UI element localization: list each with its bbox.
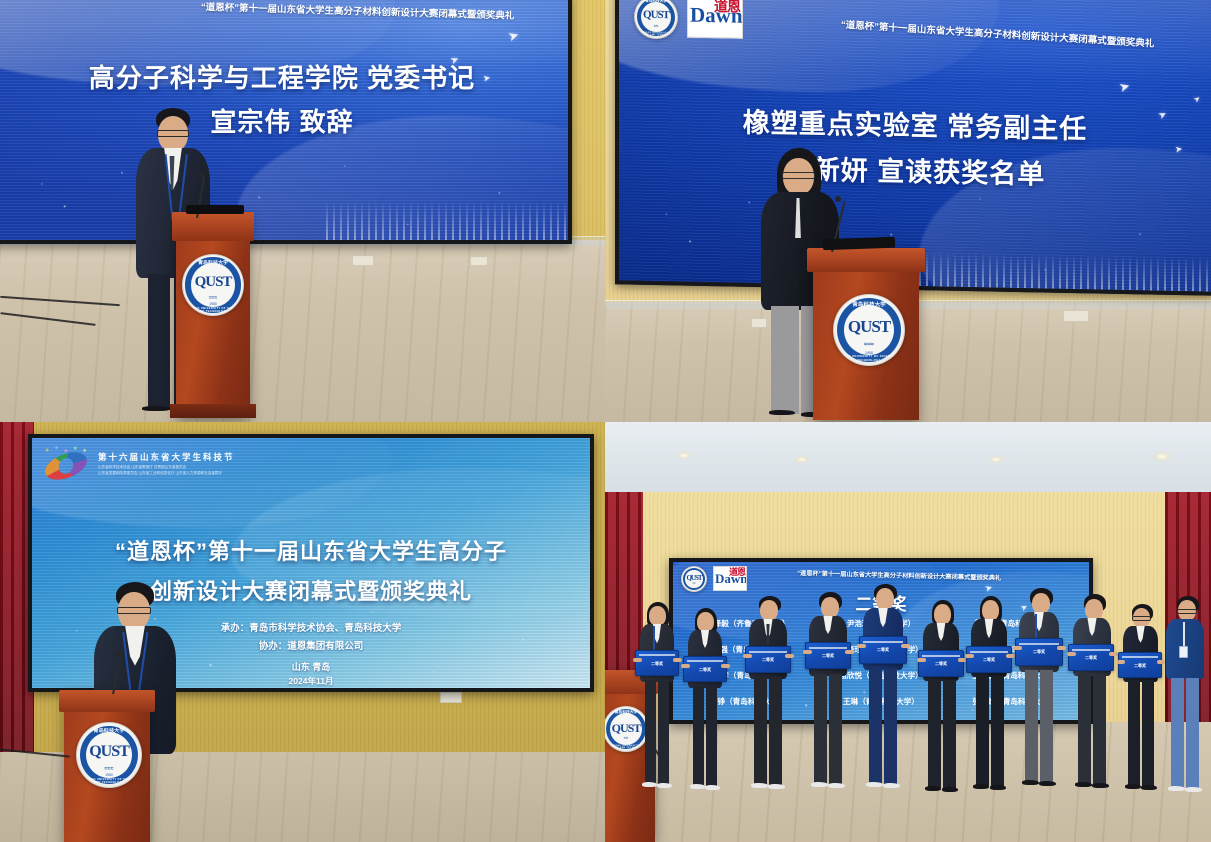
leg xyxy=(645,680,656,784)
wall-socket xyxy=(440,692,462,703)
glasses-icon xyxy=(157,130,189,137)
hand xyxy=(845,650,854,654)
led-screen: “道恩杯”第十一届山东省大学生高分子材料创新设计大赛闭幕式暨颁奖典礼 ➤ ➤ ➤… xyxy=(0,0,572,244)
emblem-wordmark: QUST xyxy=(183,274,243,291)
certificate-header-line xyxy=(639,654,676,656)
lanyard xyxy=(653,626,655,652)
badge xyxy=(1179,646,1188,658)
leg xyxy=(754,677,767,785)
leg xyxy=(814,674,827,784)
certificate: 二等奖 xyxy=(1068,644,1114,671)
certificate-label: 二等奖 xyxy=(1069,656,1113,660)
shoe xyxy=(1185,787,1202,792)
leg xyxy=(991,676,1004,786)
leg xyxy=(976,676,989,786)
leg xyxy=(148,274,170,410)
emblem-year: 1950 xyxy=(77,773,141,777)
ceiling-downlight xyxy=(989,456,1003,463)
microphone-head xyxy=(835,196,841,202)
head xyxy=(982,600,999,621)
dawn-logo: Dawn 道恩 xyxy=(687,0,743,39)
leg xyxy=(1025,670,1038,782)
certificate-header-line xyxy=(687,660,724,662)
panel-bottom-left: 第十六届山东省大学生科技节 山东省科学技术协会 山东省教育厅 共青团山东省委员会… xyxy=(0,422,605,842)
leg xyxy=(1128,680,1140,786)
emblem-en-text: QINGDAO UNIVERSITY OF SCIENCE AND TECHNO… xyxy=(834,354,904,362)
head xyxy=(649,606,666,626)
festival-title: 第十六届山东省大学生科技节 xyxy=(98,451,235,463)
emblem-year: 1950 xyxy=(183,302,243,306)
shoe xyxy=(942,787,958,792)
emblem-waves-icon: ≈≈≈ xyxy=(77,766,141,772)
certificate-label: 二等奖 xyxy=(636,662,678,666)
panel-bottom-right: QUST ≈≈ Dawn 道恩 “道恩杯”第十一届山东省大学生高分子材料创新设计… xyxy=(605,422,1211,842)
dawn-logo-cn: 道恩 xyxy=(714,0,740,14)
leg xyxy=(1093,674,1106,784)
podium: 青岛科技大学 QUST ≈≈≈ 1950 QINGDAO UNIVERSITY … xyxy=(64,690,150,842)
shoe xyxy=(769,410,795,415)
head xyxy=(760,600,778,621)
emblem-waves-icon: ≈≈≈ xyxy=(183,295,243,301)
certificate-label: 二等奖 xyxy=(1119,664,1161,668)
screen-title-line1: 高分子科学与工程学院 党委书记 xyxy=(0,58,568,95)
student: 二等奖 xyxy=(1067,594,1119,796)
certificate-label: 二等奖 xyxy=(806,654,850,658)
certificate-label: 二等奖 xyxy=(746,658,790,662)
glasses-icon xyxy=(117,607,151,614)
screen-surface: “道恩杯”第十一届山东省大学生高分子材料创新设计大赛闭幕式暨颁奖典礼 ➤ ➤ ➤… xyxy=(0,0,568,240)
shoe xyxy=(705,785,720,790)
shoe xyxy=(828,783,845,788)
leg xyxy=(771,306,799,414)
lanyard xyxy=(1183,622,1185,648)
student: 二等奖 xyxy=(803,592,855,796)
emblem-wordmark: QUST xyxy=(77,743,141,761)
leg xyxy=(1142,680,1154,786)
shoe xyxy=(768,784,785,789)
student: 二等奖 xyxy=(681,608,729,798)
podium-base xyxy=(170,404,256,418)
microphone-head xyxy=(199,172,205,178)
certificate-label: 二等奖 xyxy=(919,662,963,666)
hand xyxy=(917,658,926,662)
emblem-waves-icon: ≈≈≈ xyxy=(834,342,904,348)
certificate-header-line xyxy=(1019,643,1060,645)
science-festival-logo: 第十六届山东省大学生科技节 山东省科学技术协会 山东省教育厅 共青团山东省委员会… xyxy=(42,444,372,482)
leg xyxy=(1078,674,1091,784)
wall-socket xyxy=(352,255,374,266)
certificate-label: 二等奖 xyxy=(684,668,726,672)
certificate-header-line xyxy=(970,651,1009,653)
shoe xyxy=(1039,781,1056,786)
shoe xyxy=(973,784,989,789)
shoe xyxy=(811,782,828,787)
podium-top xyxy=(807,248,926,272)
certificate-header-line xyxy=(749,651,788,653)
head xyxy=(934,604,951,625)
hand xyxy=(743,654,752,658)
student: 二等奖 xyxy=(917,600,967,796)
shoe xyxy=(925,786,941,791)
certificate-header-line xyxy=(1072,649,1111,651)
certificate: 二等奖 xyxy=(745,646,791,673)
student: 二等奖 xyxy=(965,596,1015,796)
festival-orgs-line2: 山东省发展和改革委员会 山东省工业和信息化厅 山东省人力资源和社会保障厅 xyxy=(98,471,235,476)
hand xyxy=(1013,646,1022,650)
shoe xyxy=(690,784,705,789)
panel-top-right: 青岛科技大学 QUST ≈≈ QINGDAO UNIVERSITY OF SCI… xyxy=(605,0,1211,422)
certificate: 二等奖 xyxy=(805,642,851,669)
emblem-cn-text: 青岛科技大学 xyxy=(635,0,677,4)
emblem-waves-icon: ≈≈ xyxy=(682,581,706,585)
shoe xyxy=(1022,780,1039,785)
glasses-icon xyxy=(1132,616,1151,621)
certificate-label: 二等奖 xyxy=(1016,650,1062,654)
certificate-label: 二等奖 xyxy=(860,648,906,652)
head xyxy=(697,612,714,632)
hand xyxy=(1117,660,1125,664)
certificate: 二等奖 xyxy=(966,646,1012,673)
head xyxy=(1085,599,1103,620)
hand xyxy=(965,654,974,658)
emblem-wordmark: QUST xyxy=(834,317,904,337)
podium-top xyxy=(59,690,155,712)
shoe xyxy=(1092,783,1109,788)
ceiling-downlight xyxy=(1153,452,1171,461)
shoe xyxy=(866,782,883,787)
shoe xyxy=(990,785,1006,790)
emblem-en-text: QINGDAO UNIVERSITY OF SCIENCE AND TECHNO… xyxy=(77,778,141,784)
ceiling-downlight xyxy=(677,452,691,459)
certificate: 二等奖 xyxy=(918,650,964,677)
screen-title-line2: 宣宗伟 致辞 xyxy=(0,102,568,139)
shoe xyxy=(1075,782,1092,787)
hand xyxy=(633,658,642,662)
qust-emblem: 青岛科技大学 QUST ≈≈ QINGDAO UNIVERSITY OF SCI… xyxy=(634,0,678,39)
leg xyxy=(1171,678,1184,788)
hand xyxy=(857,644,866,648)
glasses-icon xyxy=(1177,609,1197,614)
qust-emblem: 青岛科技大学 QUST ≈≈≈ 1950 QINGDAO UNIVERSITY … xyxy=(182,254,244,316)
auditorium-stage: 第十六届山东省大学生科技节 山东省科学技术协会 山东省教育厅 共青团山东省委员会… xyxy=(0,422,605,842)
student: 二等奖 xyxy=(1013,588,1067,796)
dawn-logo-cn: 道恩 xyxy=(729,568,745,577)
podium: 青岛科技大学 QUST ≈≈≈ 1950 QINGDAO UNIVERSITY … xyxy=(176,212,250,418)
leg xyxy=(658,680,669,784)
head xyxy=(821,597,839,618)
leg xyxy=(1186,678,1199,788)
leg xyxy=(943,680,956,788)
shoe xyxy=(1125,784,1141,789)
leg xyxy=(869,668,882,784)
shoe xyxy=(883,783,900,788)
shoe xyxy=(657,783,672,788)
emblem-cn-text: 青岛科技大学 xyxy=(77,728,141,734)
shoe xyxy=(1168,786,1185,791)
certificate: 二等奖 xyxy=(1118,652,1162,678)
decorative-bars xyxy=(919,251,1211,292)
emblem-en-text: QINGDAO UNIVERSITY OF SCIENCE AND TECHNO… xyxy=(635,32,677,37)
certificate-label: 二等奖 xyxy=(967,658,1011,662)
dove-icon: ➤ xyxy=(1192,94,1202,104)
student xyxy=(1161,596,1211,798)
dawn-logo: Dawn 道恩 xyxy=(713,566,747,591)
emblem-cn-text: 青岛科技大学 xyxy=(834,300,904,307)
certificate: 二等奖 xyxy=(635,650,679,676)
shoe xyxy=(751,783,768,788)
podium-top xyxy=(172,212,255,241)
leg xyxy=(706,686,717,786)
hand xyxy=(1057,646,1066,650)
screen-title-line1: “道恩杯”第十一届山东省大学生高分子 xyxy=(32,534,590,566)
auditorium-stage: 青岛科技大学 QUST ≈≈ QINGDAO UNIVERSITY OF SCI… xyxy=(605,0,1211,422)
student: 二等奖 xyxy=(633,602,681,792)
sparkle-dots-icon xyxy=(42,446,94,454)
qust-emblem: QUST ≈≈ xyxy=(681,566,707,592)
auditorium-stage: QUST ≈≈ Dawn 道恩 “道恩杯”第十一届山东省大学生高分子材料创新设计… xyxy=(605,422,1211,842)
shoe xyxy=(1141,785,1157,790)
certificate: 二等奖 xyxy=(1015,638,1063,666)
stage-floor xyxy=(0,240,605,422)
certificate: 二等奖 xyxy=(859,636,907,664)
emblem-waves-icon: ≈≈ xyxy=(635,23,677,29)
shoe xyxy=(142,406,170,411)
podium-laptop xyxy=(186,205,244,214)
leg xyxy=(693,686,704,786)
decorative-bars xyxy=(326,201,568,240)
hand xyxy=(721,664,730,668)
hand xyxy=(1067,652,1076,656)
emblem-wordmark: QUST xyxy=(635,9,677,22)
glasses-icon xyxy=(782,172,815,179)
hand xyxy=(681,664,690,668)
certificate: 二等奖 xyxy=(683,656,727,682)
emblem-cn-text: 青岛科技大学 xyxy=(183,260,243,266)
leg xyxy=(829,674,842,784)
student: 二等奖 xyxy=(1117,604,1165,798)
certificate-header-line xyxy=(863,641,904,643)
qust-emblem: 青岛科技大学 QUST ≈≈≈ 1950 QINGDAO UNIVERSITY … xyxy=(76,722,142,788)
podium: 青岛科技大学 QUST ≈≈≈ 1950 QINGDAO UNIVERSITY … xyxy=(813,248,919,420)
hand xyxy=(901,644,910,648)
certificate-header-line xyxy=(809,647,848,649)
ceiling xyxy=(605,422,1211,494)
leg xyxy=(769,677,782,785)
microphone-head xyxy=(116,650,122,656)
leg xyxy=(1040,670,1053,782)
student: 二等奖 xyxy=(857,584,911,796)
certificate-header-line xyxy=(1122,656,1159,658)
student: 二等奖 xyxy=(743,596,795,796)
wall-socket xyxy=(470,256,488,266)
shoe xyxy=(642,782,657,787)
panel-top-left: “道恩杯”第十一届山东省大学生高分子材料创新设计大赛闭幕式暨颁奖典礼 ➤ ➤ ➤… xyxy=(0,0,605,422)
auditorium-stage: “道恩杯”第十一届山东省大学生高分子材料创新设计大赛闭幕式暨颁奖典礼 ➤ ➤ ➤… xyxy=(0,0,605,422)
head xyxy=(876,588,894,610)
qust-emblem: 青岛科技大学 QUST ≈≈≈ 1950 QINGDAO UNIVERSITY … xyxy=(833,294,905,366)
screen-title-line1: 橡塑重点实验室 常务副主任 xyxy=(619,98,1211,148)
ceiling-downlight xyxy=(795,456,809,463)
head xyxy=(1032,593,1050,614)
wall-socket xyxy=(1063,310,1089,322)
festival-orgs-line1: 山东省科学技术协会 山东省教育厅 共青团山东省委员会 xyxy=(98,465,235,470)
lanyard xyxy=(1035,614,1037,638)
emblem-en-text: QINGDAO UNIVERSITY OF SCIENCE AND TECHNO… xyxy=(183,307,243,313)
hand xyxy=(785,654,794,658)
certificate-header-line xyxy=(922,655,961,657)
leg xyxy=(928,680,941,788)
hand xyxy=(803,650,812,654)
photo-collage: “道恩杯”第十一届山东省大学生高分子材料创新设计大赛闭幕式暨颁奖典礼 ➤ ➤ ➤… xyxy=(0,0,1211,842)
leg xyxy=(884,668,897,784)
